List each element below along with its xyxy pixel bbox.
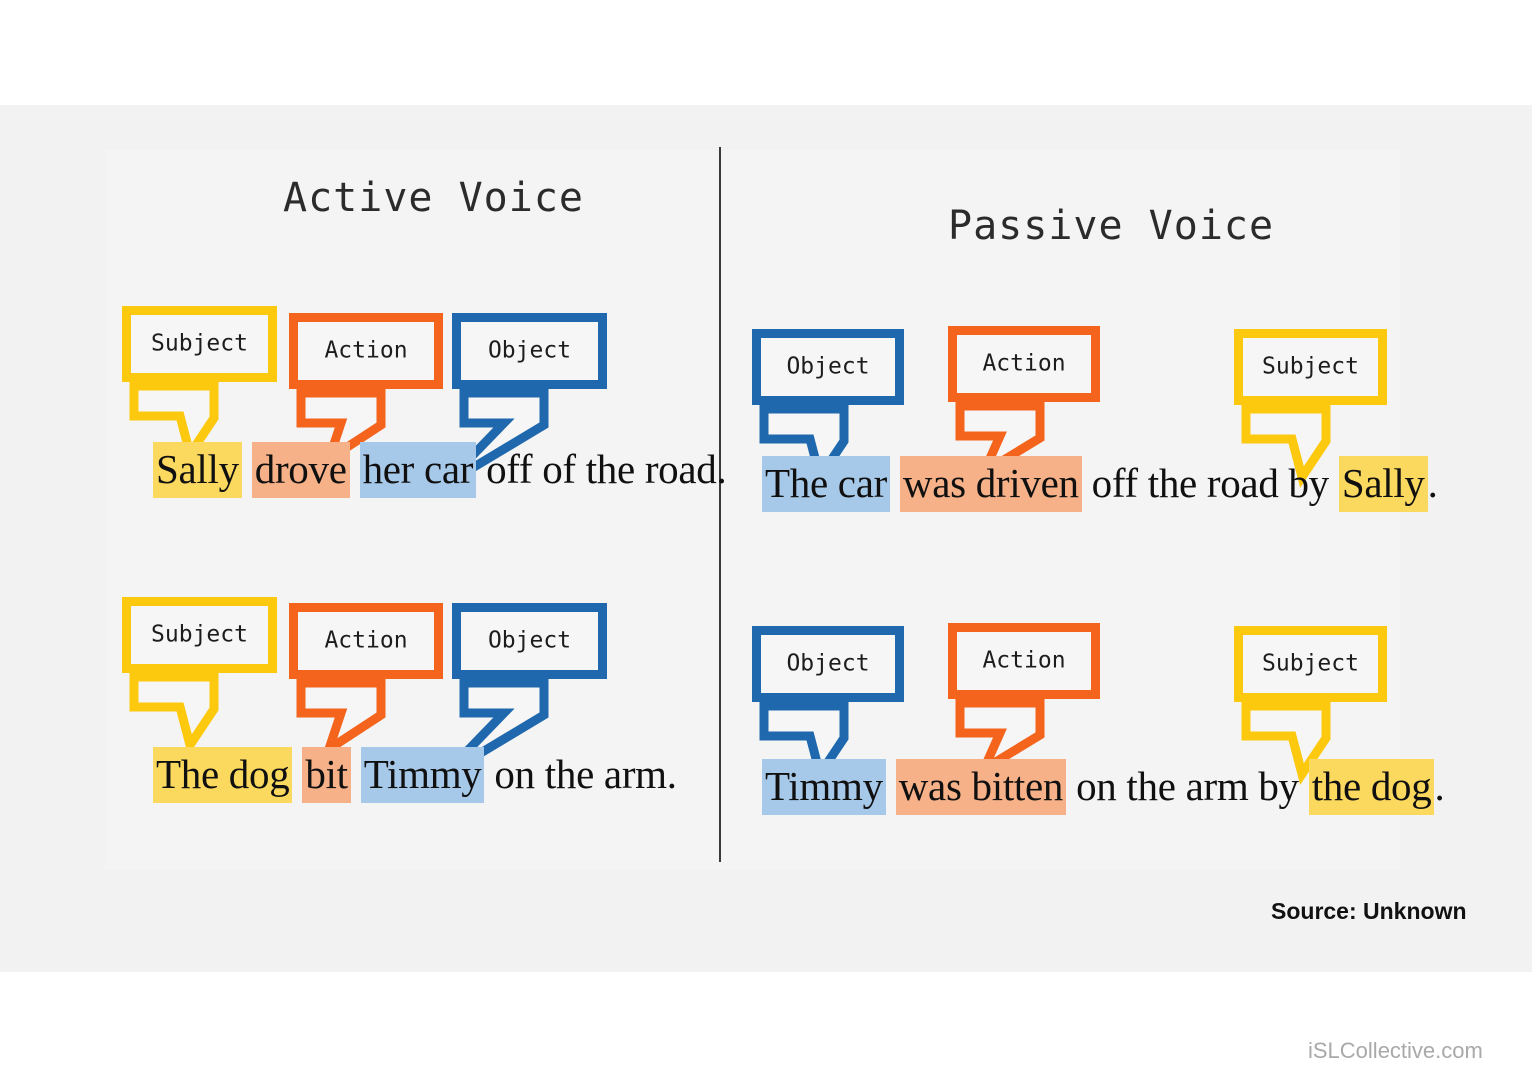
bubble-label: Action [957, 350, 1091, 376]
sentence-passive-1: The car was driven off the road by Sally… [762, 459, 1438, 507]
sentence-text: off the road by [1082, 460, 1339, 506]
sentence-text [350, 446, 360, 492]
sentence-active-2: The dog bit Timmy on the arm. [153, 750, 677, 798]
bubble-subject-passive-1: Subject [1234, 329, 1387, 405]
bubble-label: Action [957, 647, 1091, 673]
bubble-subject-active-1: Subject [122, 306, 277, 382]
sentence-text: off of the road. [476, 446, 726, 492]
highlight-action: was bitten [896, 759, 1066, 815]
page-title-passive: Passive Voice [948, 203, 1274, 249]
highlight-object: The car [762, 456, 890, 512]
bubble-object-active-2: Object [452, 603, 607, 679]
bubble-label: Subject [131, 330, 268, 356]
sentence-text [890, 460, 900, 506]
bubble-action-passive-2: Action [948, 623, 1100, 699]
highlight-subject: Sally [153, 442, 242, 498]
bubble-label: Action [298, 627, 434, 653]
highlight-action: drove [252, 442, 350, 498]
bubble-label: Object [761, 650, 895, 676]
bubble-label: Object [461, 627, 598, 653]
passive-active-voice-infographic: { "page": { "background_color": "#ffffff… [0, 0, 1532, 1083]
bubble-action-active-1: Action [289, 313, 443, 389]
highlight-object: her car [360, 442, 477, 498]
watermark-label: iSLCollective.com [1308, 1038, 1483, 1064]
sentence-text: . [1428, 460, 1438, 506]
sentence-text [242, 446, 252, 492]
bubble-label: Subject [1243, 353, 1378, 379]
highlight-subject: The dog [153, 747, 292, 803]
page-title-active: Active Voice [283, 175, 584, 221]
bubble-subject-active-2: Subject [122, 597, 277, 673]
bubble-subject-passive-2: Subject [1234, 626, 1387, 702]
highlight-subject: the dog [1309, 759, 1435, 815]
highlight-object: Timmy [762, 759, 886, 815]
sentence-text: on the arm by [1066, 763, 1309, 809]
sentence-text [351, 751, 361, 797]
bubble-action-active-2: Action [289, 603, 443, 679]
highlight-subject: Sally [1339, 456, 1428, 512]
bubble-label: Object [461, 337, 598, 363]
bubble-label: Object [761, 353, 895, 379]
sentence-text: . [1434, 763, 1444, 809]
bubble-label: Subject [1243, 650, 1378, 676]
bubble-object-passive-1: Object [752, 329, 904, 405]
source-label: Source: Unknown [1271, 898, 1467, 925]
bubble-label: Action [298, 337, 434, 363]
highlight-action: was driven [900, 456, 1082, 512]
highlight-object: Timmy [361, 747, 485, 803]
sentence-active-1: Sally drove her car off of the road. [153, 445, 726, 493]
sentence-text: on the arm. [484, 751, 676, 797]
sentence-text [292, 751, 302, 797]
bubble-action-passive-1: Action [948, 326, 1100, 402]
sentence-passive-2: Timmy was bitten on the arm by the dog. [762, 762, 1444, 810]
highlight-action: bit [302, 747, 350, 803]
sentence-text [886, 763, 896, 809]
bubble-object-passive-2: Object [752, 626, 904, 702]
column-divider [719, 147, 721, 862]
bubble-label: Subject [131, 621, 268, 647]
bubble-object-active-1: Object [452, 313, 607, 389]
